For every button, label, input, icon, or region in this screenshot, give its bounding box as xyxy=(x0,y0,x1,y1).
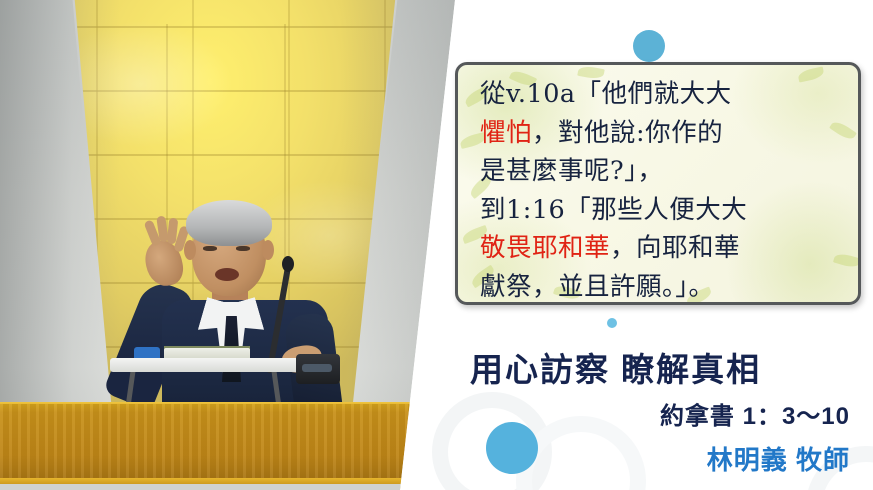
eye-right xyxy=(236,246,250,251)
accent-dot-top xyxy=(633,30,665,62)
slide-stage: 從v.10a「他們就大大 懼怕，對他說:你作的 是甚麼事呢?」， 到1:16「那… xyxy=(0,0,873,490)
ear-right xyxy=(262,240,274,260)
sermon-video-feed xyxy=(0,0,470,490)
eye-left xyxy=(203,246,217,251)
accent-dot-middle xyxy=(607,318,617,328)
verse-highlight-phrase: 敬畏耶和華 xyxy=(480,233,610,263)
speaker-name: 林明義 牧師 xyxy=(470,440,850,477)
scripture-verse-text: 從v.10a「他們就大大 懼怕，對他說:你作的 是甚麼事呢?」， 到1:16「那… xyxy=(480,75,844,305)
mouth xyxy=(215,268,239,281)
microphone-base-unit xyxy=(296,354,340,384)
wooden-pulpit xyxy=(0,404,470,490)
scripture-verse-card: 從v.10a「他們就大大 懼怕，對他說:你作的 是甚麼事呢?」， 到1:16「那… xyxy=(455,62,861,305)
scripture-reference: 約拿書 1：3～10 xyxy=(470,396,850,431)
sermon-title: 用心訪察 瞭解真相 xyxy=(470,343,836,391)
verse-highlight-phrase: 懼怕 xyxy=(480,118,532,148)
microphone-head-icon xyxy=(282,256,294,272)
hair xyxy=(186,200,272,246)
lectern-top xyxy=(110,358,310,372)
ear-left xyxy=(184,240,196,260)
verse-segment: 從v.10a「他們就大大 xyxy=(480,79,732,109)
floor-strip xyxy=(0,484,470,490)
